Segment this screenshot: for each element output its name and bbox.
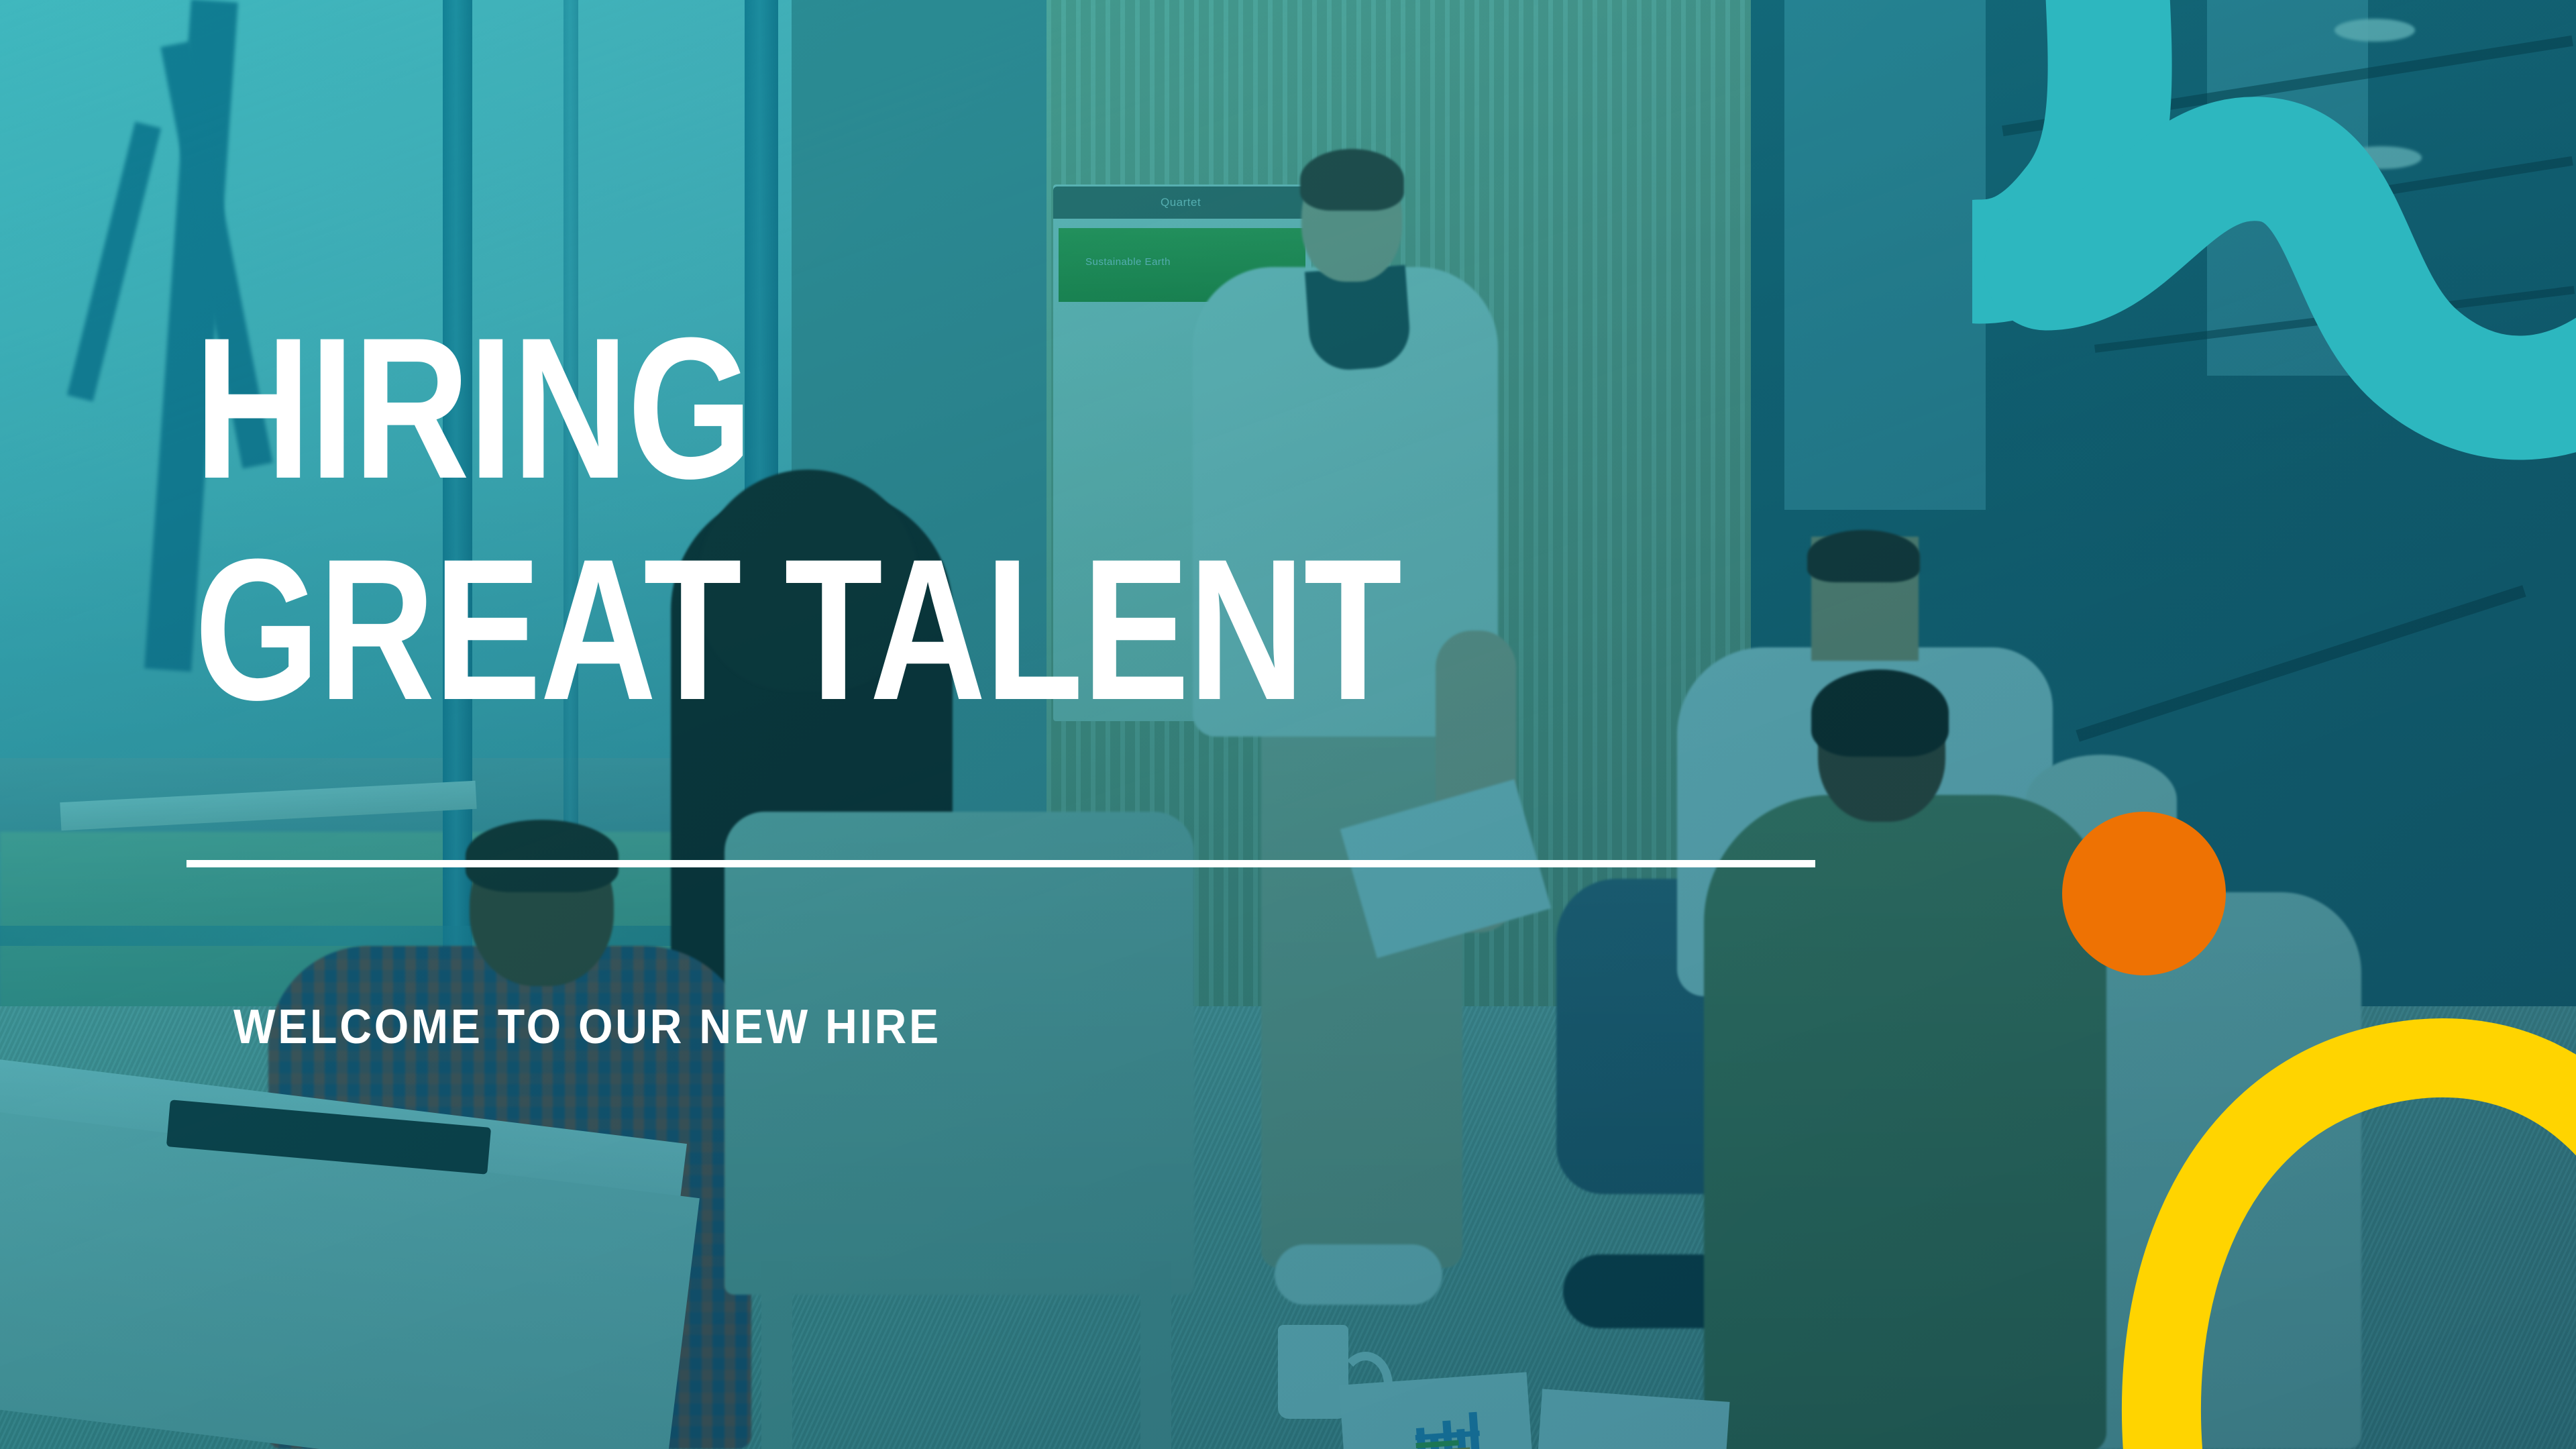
headline-line-1: HIRING (195, 315, 751, 500)
subtitle: WELCOME TO OUR NEW HIRE (233, 1000, 941, 1055)
poster-content: HIRING GREAT TALENT WELCOME TO OUR NEW H… (0, 0, 2576, 1449)
divider-rule (186, 860, 1815, 867)
headline-line-2: GREAT TALENT (195, 537, 1401, 722)
poster-canvas: Quartet Sustainable Earth (0, 0, 2576, 1449)
